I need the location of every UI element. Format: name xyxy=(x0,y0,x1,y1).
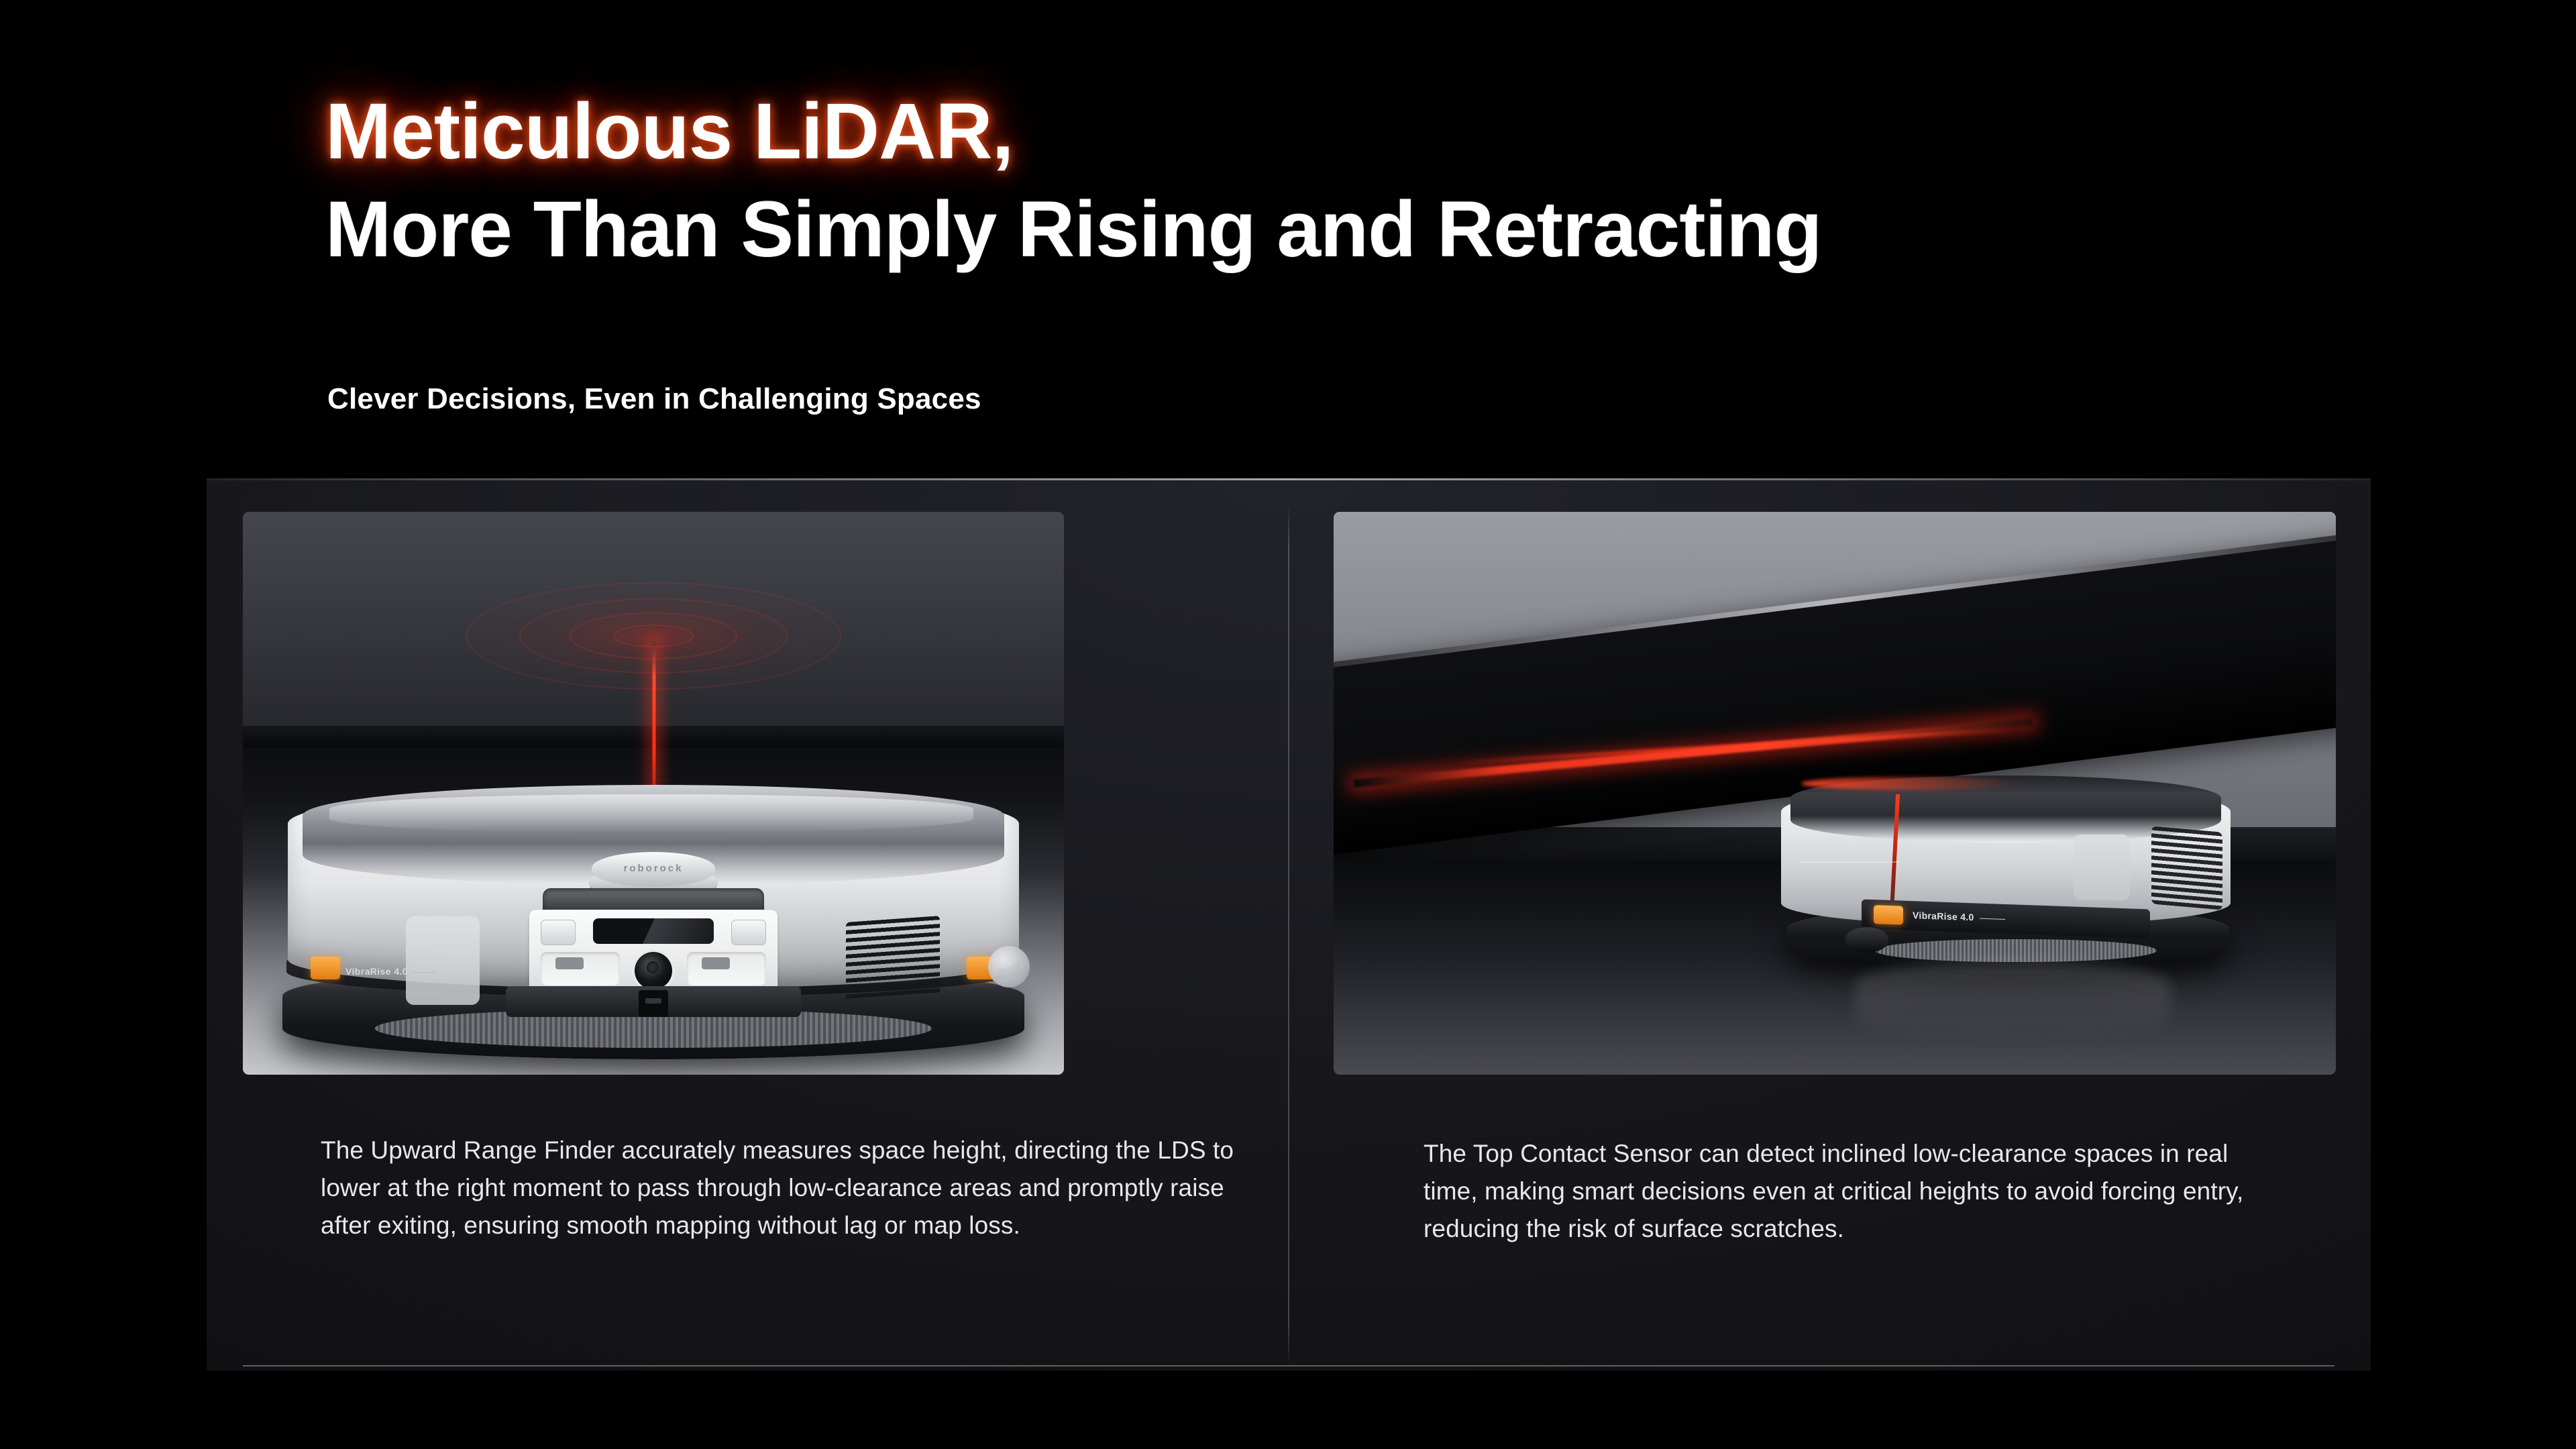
robot-vent xyxy=(2151,826,2222,910)
sensor-pad-left xyxy=(541,920,576,945)
scene-right: VibraRise 4.0 xyxy=(1334,512,2336,1075)
robot-side-panel xyxy=(2074,835,2130,900)
amber-indicator xyxy=(1874,905,1903,925)
card-top-highlight xyxy=(207,478,2371,480)
sensor-tray-right xyxy=(687,952,766,985)
column-divider xyxy=(1288,504,1289,1366)
floor-reflection xyxy=(1855,961,2170,1041)
headline-line-2: More Than Simply Rising and Retracting xyxy=(325,185,2338,274)
bottom-divider xyxy=(243,1365,2334,1366)
sensor-window xyxy=(593,918,714,944)
mop-pad xyxy=(988,946,1030,987)
robot-bumper-sensor xyxy=(639,990,668,1017)
vibrarise-badge-right: VibraRise 4.0 xyxy=(1913,910,2005,924)
robot-vent xyxy=(846,916,940,1003)
subheadline: Clever Decisions, Even in Challenging Sp… xyxy=(327,382,981,416)
amber-indicator-left xyxy=(311,957,340,979)
panel-top-contact-sensor: VibraRise 4.0 xyxy=(1334,512,2336,1075)
product-photo-right: VibraRise 4.0 xyxy=(1334,512,2336,1075)
panel-upward-range-finder: roborock xyxy=(243,512,1064,1075)
sensor-tray-left xyxy=(541,952,620,985)
robot-vacuum-lowclearance: VibraRise 4.0 xyxy=(1774,759,2237,981)
vibrarise-badge-left: VibraRise 4.0 xyxy=(345,966,436,977)
robot-seam-secondary xyxy=(1799,861,1899,863)
front-sensor-array xyxy=(529,910,777,996)
scene-left: roborock xyxy=(243,512,1064,1075)
caption-top-contact-sensor: The Top Contact Sensor can detect inclin… xyxy=(1424,1135,2289,1248)
camera-icon xyxy=(635,952,672,989)
page-heading: Meticulous LiDAR, More Than Simply Risin… xyxy=(325,87,2338,274)
lidar-cap: roborock xyxy=(592,852,715,887)
product-photo-left: roborock xyxy=(243,512,1064,1075)
robot-side-panel xyxy=(406,916,480,1005)
brand-logo: roborock xyxy=(592,863,715,874)
robot-side-brush xyxy=(1875,939,2157,962)
caption-upward-range-finder: The Upward Range Finder accurately measu… xyxy=(321,1132,1240,1245)
robot-vacuum-front: roborock xyxy=(288,788,1019,1056)
headline-line-1: Meticulous LiDAR, xyxy=(325,87,2338,176)
sensor-pad-right xyxy=(731,920,766,945)
robot-wheel xyxy=(1845,927,1888,953)
